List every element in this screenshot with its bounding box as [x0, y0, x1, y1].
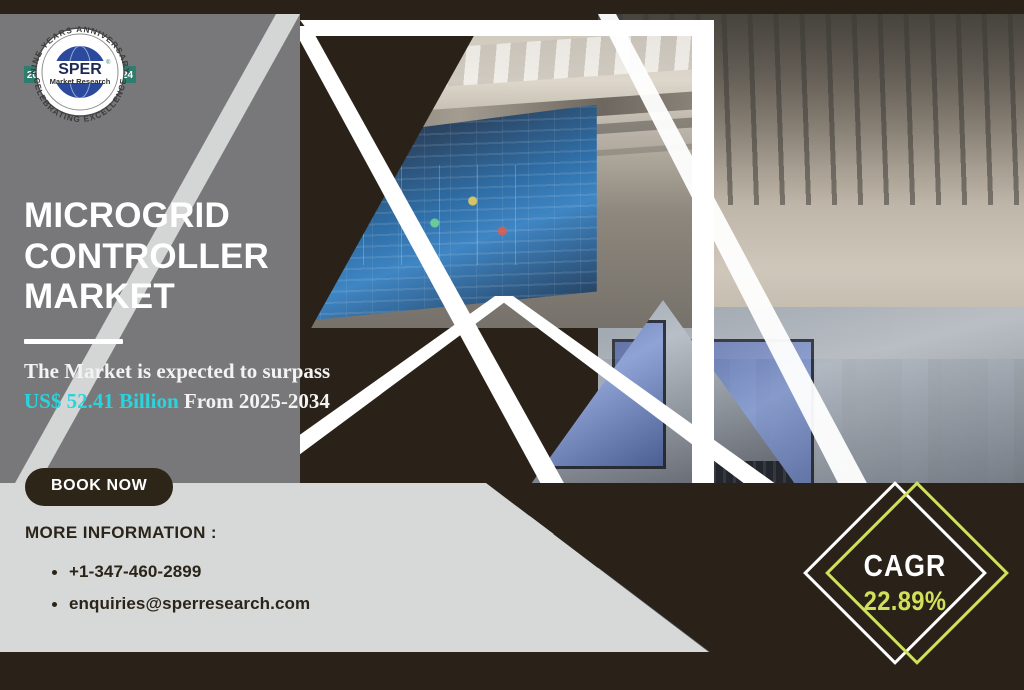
sper-logo[interactable]: 2015 2024 NINE YEARS ANNIVERSARY CELEBRA…	[18, 20, 142, 124]
market-value: US$ 52.41 Billion	[24, 389, 179, 413]
contact-email[interactable]: enquiries@sperresearch.com	[52, 594, 310, 614]
book-now-button[interactable]: BOOK NOW	[25, 468, 173, 506]
cagr-badge: CAGR 22.89%	[800, 470, 1010, 680]
contact-list: +1-347-460-2899 enquiries@sperresearch.c…	[52, 562, 310, 626]
subheadline: The Market is expected to surpass US$ 52…	[24, 357, 404, 417]
cagr-text-group: CAGR 22.89%	[800, 548, 1010, 617]
cagr-label: CAGR	[815, 548, 996, 584]
page-title: MICROGRID CONTROLLER MARKET	[24, 196, 290, 318]
subheadline-period: From 2025-2034	[184, 389, 330, 413]
sper-logo-badge-icon: 2015 2024 NINE YEARS ANNIVERSARY CELEBRA…	[18, 20, 142, 124]
logo-brand: SPER	[58, 61, 102, 78]
logo-registered-icon: ®	[106, 59, 111, 66]
logo-tagline: Market Research	[50, 77, 111, 86]
contact-phone[interactable]: +1-347-460-2899	[52, 562, 310, 582]
cagr-value: 22.89%	[813, 586, 998, 617]
top-dark-strip	[0, 0, 1024, 14]
title-divider	[24, 339, 123, 344]
more-information-heading: MORE INFORMATION :	[25, 523, 217, 543]
marketing-banner: 2015 2024 NINE YEARS ANNIVERSARY CELEBRA…	[0, 0, 1024, 690]
subheadline-lead: The Market is expected to surpass	[24, 359, 330, 383]
